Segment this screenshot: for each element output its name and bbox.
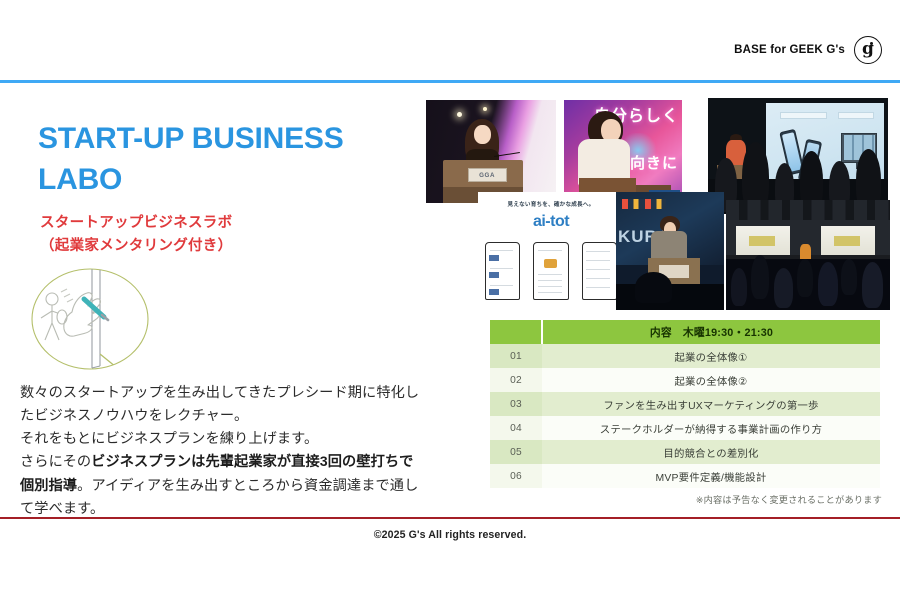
- hand-writing-on-whiteboard-illustration: [30, 268, 150, 370]
- header-rule: [0, 80, 900, 83]
- headline-line-1: START-UP BUSINESS: [38, 118, 418, 159]
- row-number: 03: [490, 392, 542, 416]
- photo-collage: GGA 自分らしく 前向きに: [418, 92, 890, 310]
- table-row[interactable]: 05 目的競合との差別化: [490, 440, 880, 464]
- row-number: 06: [490, 464, 542, 488]
- gs-circle-logo: g: [854, 36, 882, 64]
- row-number: 02: [490, 368, 542, 392]
- aitot-logo: ai-tot: [478, 213, 624, 231]
- body-line-4-prefix: さらにその: [20, 454, 91, 470]
- row-content: MVP要件定義/機能設計: [542, 464, 880, 488]
- table-row[interactable]: 03 ファンを生み出すUXマーケティングの第一歩: [490, 392, 880, 416]
- logo-glyph: g: [855, 41, 881, 58]
- body-line-3: それをもとにビジネスプランを練り上げます。: [20, 428, 485, 451]
- row-number: 04: [490, 416, 542, 440]
- body-line-4: さらにそのビジネスプランは先輩起業家が直接3回の壁打ちで: [20, 451, 485, 474]
- page-header: BASE for GEEK G's g: [0, 0, 900, 82]
- row-content: ステークホルダーが納得する事業計画の作り方: [542, 416, 880, 440]
- body-line-5: 個別指導。アイディアを生み出すところから資金調達まで通し: [20, 475, 485, 498]
- table-row[interactable]: 01 起業の全体像①: [490, 344, 880, 368]
- schedule-header-row: 内容 木曜19:30・21:30: [490, 320, 880, 344]
- photo-aitot-product-slide: 見えない育ちを、確かな成長へ。 ai-tot: [478, 192, 624, 305]
- podium-plaque: GGA: [468, 168, 507, 182]
- photo-auditorium-audience-dual-screens: [726, 200, 890, 310]
- slide-caption: 見えない育ちを、確かな成長へ。: [478, 200, 624, 208]
- schedule-col-content: 内容 木曜19:30・21:30: [542, 320, 880, 344]
- slide-canvas: BASE for GEEK G's g START-UP BUSINESS LA…: [0, 0, 900, 600]
- photo-presenter-phone-mockup-slide: [708, 98, 888, 214]
- photo-speaker-kura-backdrop: KURA: [616, 192, 724, 310]
- phone-mockup-3: [582, 242, 617, 301]
- body-copy: 数々のスタートアップを生み出してきたプレシード期に特化し たビジネスノウハウをレ…: [20, 382, 485, 521]
- footer-rule: [0, 517, 900, 519]
- table-row[interactable]: 02 起業の全体像②: [490, 368, 880, 392]
- page-title: START-UP BUSINESS LABO: [38, 118, 418, 200]
- copyright-text: ©2025 G's All rights reserved.: [0, 529, 900, 541]
- subtitle-line-1: スタートアップビジネスラボ: [40, 212, 420, 235]
- body-line-2: たビジネスノウハウをレクチャー。: [20, 405, 485, 428]
- table-row[interactable]: 04 ステークホルダーが納得する事業計画の作り方: [490, 416, 880, 440]
- row-number: 01: [490, 344, 542, 368]
- body-line-1: 数々のスタートアップを生み出してきたプレシード期に特化し: [20, 382, 485, 405]
- schedule-col-number: [490, 320, 542, 344]
- subtitle-line-2: （起業家メンタリング付き）: [40, 235, 420, 258]
- row-content: ファンを生み出すUXマーケティングの第一歩: [542, 392, 880, 416]
- phone-mockup-1: [485, 242, 520, 301]
- podium-plaque-text: GGA: [479, 172, 495, 179]
- row-content: 目的競合との差別化: [542, 440, 880, 464]
- table-row[interactable]: 06 MVP要件定義/機能設計: [490, 464, 880, 488]
- brand-lockup: BASE for GEEK G's g: [734, 36, 882, 64]
- row-content: 起業の全体像②: [542, 368, 880, 392]
- body-line-5-rest: 。アイディアを生み出すところから資金調達まで通し: [77, 478, 418, 494]
- schedule-note: ※内容は予告なく変更されることがあります: [696, 492, 882, 506]
- body-line-4-emphasis: ビジネスプランは先輩起業家が直接3回の壁打ちで: [91, 454, 413, 470]
- row-number: 05: [490, 440, 542, 464]
- body-line-5-emphasis: 個別指導: [20, 478, 77, 494]
- phone-mockup-2: [533, 242, 568, 301]
- schedule-table: 内容 木曜19:30・21:30 01 起業の全体像① 02 起業の全体像② 0…: [490, 320, 880, 488]
- photo-woman-at-gga-podium: GGA: [426, 100, 556, 203]
- row-content: 起業の全体像①: [542, 344, 880, 368]
- brand-text: BASE for GEEK G's: [734, 44, 845, 56]
- page-subtitle: スタートアップビジネスラボ （起業家メンタリング付き）: [40, 212, 420, 259]
- headline-line-2: LABO: [38, 159, 418, 200]
